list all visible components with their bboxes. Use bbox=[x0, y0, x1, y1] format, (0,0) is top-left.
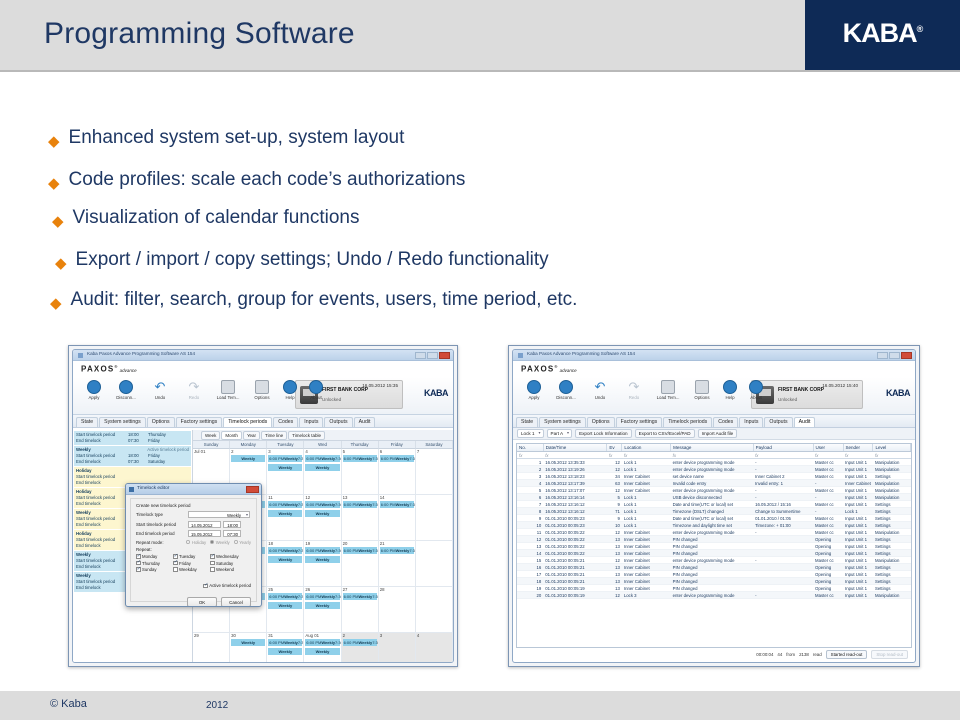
dialog-titlebar[interactable]: Timelock editor bbox=[126, 484, 261, 495]
calendar-event[interactable]: Weekly bbox=[305, 556, 339, 563]
calendar-event[interactable]: Weekly bbox=[231, 455, 265, 462]
table-row[interactable]: 216.05.2012 13:19:2612Lock 1enter device… bbox=[517, 466, 911, 473]
audit-cell-message: Date and time(UTC or local) set bbox=[671, 515, 753, 522]
bullet-item: ◆Visualization of calendar functions bbox=[52, 208, 360, 229]
end-label: End timelock bbox=[76, 459, 128, 465]
event-label: Weekly bbox=[396, 548, 410, 553]
left-tab-codes[interactable]: Codes bbox=[273, 417, 298, 427]
audit-cell-level: Manipulation bbox=[873, 529, 911, 536]
audit-column-user[interactable]: User bbox=[813, 444, 843, 452]
audit-filter-cell[interactable]: fx bbox=[753, 452, 813, 459]
checkbox-icon bbox=[173, 567, 178, 572]
audit-cell-datetime: 16.05.2012 13:16:12 bbox=[543, 501, 607, 508]
audit-cell-location: Inner Cabinet bbox=[622, 585, 671, 592]
table-row[interactable]: 901.01.2010 00:05:239Lock 1Date and time… bbox=[517, 515, 911, 522]
calendar-event[interactable]: 6:00 PMWeekly7:30 AM bbox=[268, 501, 302, 508]
left-tab-outputs[interactable]: Outputs bbox=[324, 417, 352, 427]
cancel-button[interactable]: Cancel bbox=[221, 597, 251, 607]
calendar-cell[interactable]: 46:00 PMWeekly7:30 AMWeekly bbox=[304, 449, 341, 495]
right-tab-outputs[interactable]: Outputs bbox=[764, 417, 792, 427]
audit-cell-location: Lock 1 bbox=[622, 508, 671, 515]
audit-cell-ev: 13 bbox=[607, 571, 622, 578]
event-start-time: 6:00 PM bbox=[344, 594, 359, 599]
right-tabstrip[interactable]: StateSystem settingsOptionsFactory setti… bbox=[513, 415, 915, 428]
audit-column-ev[interactable]: Ev bbox=[607, 444, 622, 452]
audit-cell-location: Lock 1 bbox=[622, 515, 671, 522]
calendar-event[interactable]: 6:00 PMWeekly7:30 AM bbox=[343, 501, 377, 508]
close-icon[interactable] bbox=[439, 352, 450, 359]
audit-cell-level: Settings bbox=[873, 473, 911, 480]
start-time-input[interactable]: 18:00 bbox=[223, 521, 241, 528]
audit-table-body[interactable]: fxfxfxfxfxfxfxfxfx116.05.2012 13:35:3312… bbox=[517, 452, 911, 599]
calendar-event[interactable]: 6:00 PMWeekly7:30 AM bbox=[268, 639, 302, 646]
audit-cell-no: 2 bbox=[517, 466, 543, 473]
audit-status-bar: 00:00:04 44 from 2138 read Started read-… bbox=[516, 649, 912, 660]
toolbar-label: Disconn... bbox=[109, 395, 143, 400]
calendar-day-number: 26 bbox=[305, 587, 310, 592]
audit-column-payload[interactable]: Payload bbox=[753, 444, 813, 452]
calendar-view-year[interactable]: Year bbox=[243, 431, 260, 440]
calendar-view-timelock-table[interactable]: Timelock table bbox=[288, 431, 325, 440]
day-label: Monday bbox=[142, 554, 157, 559]
end-time: 07:30 bbox=[128, 459, 148, 465]
audit-subbar[interactable]: Lock 1Part AExport Lock InformationExpor… bbox=[513, 428, 915, 440]
audit-filter-cell[interactable]: fx bbox=[517, 452, 543, 459]
table-row[interactable]: 1501.01.2010 00:05:2112Inner Cabinetente… bbox=[517, 557, 911, 564]
right-tab-inputs[interactable]: Inputs bbox=[739, 417, 763, 427]
audit-cell-datetime: 01.01.2010 00:05:22 bbox=[543, 536, 607, 543]
calendar-event[interactable]: Weekly bbox=[305, 648, 339, 655]
end-time-input[interactable]: 07:30 bbox=[223, 530, 241, 537]
maximize-icon[interactable] bbox=[427, 352, 438, 359]
timelock-type-select[interactable]: Weekly bbox=[188, 511, 250, 518]
active-period-checkbox[interactable]: Active timelock period bbox=[203, 583, 251, 588]
audit-cell-ev: 12 bbox=[607, 487, 622, 494]
repeat-mode-radios[interactable]: HolidayWeeklyYearly bbox=[186, 540, 251, 545]
checkbox-icon bbox=[210, 567, 215, 572]
audit-cell-datetime: 01.01.2010 00:05:21 bbox=[543, 564, 607, 571]
table-row[interactable]: 1001.01.2010 00:05:2310Lock 1Timezone an… bbox=[517, 522, 911, 529]
audit-cell-level: Settings bbox=[873, 564, 911, 571]
calendar-cell[interactable]: 7 bbox=[416, 449, 453, 495]
radio-label: Holiday bbox=[192, 540, 206, 545]
toolbar-button-undo[interactable]: Undo bbox=[583, 380, 617, 400]
audit-cell-payload bbox=[753, 536, 813, 543]
day-label: Wednesday bbox=[216, 554, 239, 559]
right-tab-audit[interactable]: Audit bbox=[794, 417, 816, 427]
event-start-time: 6:00 PM bbox=[344, 640, 359, 645]
calendar-cell[interactable]: 30Weekly bbox=[230, 633, 267, 662]
audit-cell-ev: 63 bbox=[607, 480, 622, 487]
dialog-close-icon[interactable] bbox=[246, 486, 259, 493]
calendar-view-time-line[interactable]: Time line bbox=[261, 431, 287, 440]
slide-header: Programming Software KABA® bbox=[0, 0, 960, 70]
audit-cell-sender: Input Unit 1 bbox=[843, 585, 873, 592]
right-tab-timelock-periods[interactable]: Timelock periods bbox=[663, 417, 712, 427]
calendar-event[interactable]: 6:00 PMWeekly7:30 AM bbox=[305, 547, 339, 554]
table-row[interactable]: 1601.01.2010 00:05:2113Inner CabinetPIN … bbox=[517, 564, 911, 571]
audit-cell-no: 18 bbox=[517, 578, 543, 585]
right-window-titlebar[interactable]: Kaba Paxos Advance Programming Software … bbox=[513, 350, 915, 361]
repeat-mode-label: Repeat mode: bbox=[136, 540, 186, 545]
calendar-day-number: 14 bbox=[380, 495, 385, 500]
calendar-cell[interactable]: 126:00 PMWeekly7:30 AMWeekly bbox=[304, 495, 341, 541]
day-checkbox-weekday[interactable]: Weekday bbox=[173, 567, 210, 572]
table-row[interactable]: 1101.01.2010 00:05:2212Inner Cabinetente… bbox=[517, 529, 911, 536]
undo-icon bbox=[593, 380, 607, 394]
calendar-event[interactable]: 6:00 PMWeekly7:30 AM bbox=[380, 501, 414, 508]
table-row[interactable]: 2001.01.2010 00:05:1912Lock 3enter devic… bbox=[517, 592, 911, 599]
calendar-event[interactable]: Weekly bbox=[231, 639, 265, 646]
bullet-dot: ◆ bbox=[48, 134, 60, 149]
event-start-time: 6:00 PM bbox=[344, 456, 359, 461]
left-tab-factory-settings[interactable]: Factory settings bbox=[176, 417, 223, 427]
repeat-mode-yearly[interactable]: Yearly bbox=[234, 540, 251, 545]
audit-cell-ev: 12 bbox=[607, 592, 622, 599]
calendar-event[interactable]: Weekly bbox=[268, 648, 302, 655]
day-checkbox-friday[interactable]: Friday bbox=[173, 561, 210, 566]
audit-cell-level: Manipulation bbox=[873, 557, 911, 564]
calendar-day-header: Thursday bbox=[342, 441, 379, 449]
redo-icon bbox=[187, 380, 201, 394]
audit-cell-datetime: 01.01.2010 00:05:23 bbox=[543, 515, 607, 522]
event-label: Weekly bbox=[316, 465, 330, 470]
help-icon bbox=[723, 380, 737, 394]
paxos-logo-sub: advance bbox=[120, 368, 137, 373]
calendar-cell[interactable]: 146:00 PMWeekly7:30 AM bbox=[379, 495, 416, 541]
toolbar-button-undo[interactable]: Undo bbox=[143, 380, 177, 400]
audit-cell-sender: Input Unit 1 bbox=[843, 592, 873, 599]
calendar-event[interactable]: Weekly bbox=[268, 602, 302, 609]
audit-cell-payload bbox=[753, 571, 813, 578]
calendar-cell[interactable]: 36:00 PMWeekly7:30 AMWeekly bbox=[267, 449, 304, 495]
toolbar-label: About bbox=[299, 395, 333, 400]
audit-cell-level: Settings bbox=[873, 522, 911, 529]
left-tab-timelock-periods[interactable]: Timelock periods bbox=[223, 417, 272, 427]
calendar-event[interactable]: 6:00 PMWeekly7:30 AM bbox=[268, 547, 302, 554]
calendar-event[interactable]: 6:00 PMWeekly7:30 AM bbox=[343, 639, 377, 646]
timelock-editor-dialog[interactable]: Timelock editor Create new timelock peri… bbox=[125, 483, 262, 607]
calendar-cell[interactable]: 196:00 PMWeekly7:30 AMWeekly bbox=[304, 541, 341, 587]
calendar-cell[interactable]: 256:00 PMWeekly7:30 AMWeekly bbox=[267, 587, 304, 633]
start-date-input[interactable]: 14.05.2012 bbox=[188, 521, 221, 528]
audit-cell-datetime: 16.05.2012 13:16:14 bbox=[543, 494, 607, 501]
calendar-cell[interactable] bbox=[416, 541, 453, 587]
subbar-button-export-lock-information[interactable]: Export Lock Information bbox=[575, 429, 632, 438]
calendar-event[interactable]: Weekly bbox=[268, 510, 302, 517]
event-label: Weekly bbox=[316, 603, 330, 608]
event-start-time: 6:00 PM bbox=[306, 594, 321, 599]
table-row[interactable]: 316.05.2012 13:18:2334Inner Cabinetset d… bbox=[517, 473, 911, 480]
event-label: Weekly bbox=[284, 594, 298, 599]
right-tab-codes[interactable]: Codes bbox=[713, 417, 738, 427]
audit-column-location[interactable]: Location bbox=[622, 444, 671, 452]
calendar-cell[interactable]: 316:00 PMWeekly7:30 AMWeekly bbox=[267, 633, 304, 662]
window-controls[interactable] bbox=[415, 352, 450, 359]
calendar-event[interactable]: 6:00 PMWeekly7:30 AM bbox=[305, 455, 339, 462]
calendar-day-number: 29 bbox=[194, 633, 199, 638]
toolbar-button-disconn[interactable]: Disconn... bbox=[109, 380, 143, 400]
audit-cell-location: Lock 1 bbox=[622, 501, 671, 508]
audit-cell-no: 17 bbox=[517, 571, 543, 578]
calendar-day-header: Tuesday bbox=[267, 441, 304, 449]
read-word: read bbox=[813, 652, 822, 657]
repeat-label: Repeat: bbox=[136, 547, 251, 552]
audit-cell-location: Inner Cabinet bbox=[622, 564, 671, 571]
audit-cell-level: Settings bbox=[873, 508, 911, 515]
audit-cell-payload: - bbox=[753, 487, 813, 494]
left-window-titlebar[interactable]: Kaba Paxos Advance Programming Software … bbox=[73, 350, 453, 361]
toolbar-button-apply[interactable]: Apply bbox=[77, 380, 111, 400]
calendar-event[interactable]: 6:00 PMWeekly7:30 AM bbox=[268, 455, 302, 462]
audit-cell-payload bbox=[753, 550, 813, 557]
maximize-icon[interactable] bbox=[889, 352, 900, 359]
subbar-button-import-audit-file[interactable]: Import Audit file bbox=[698, 429, 738, 438]
audit-column-date-time[interactable]: Date/Time bbox=[543, 444, 607, 452]
calendar-cell[interactable]: 29 bbox=[193, 633, 230, 662]
calendar-event[interactable]: Weekly bbox=[305, 510, 339, 517]
toolbar-button-about[interactable]: About bbox=[739, 380, 773, 400]
audit-cell-message: enter device programming mode bbox=[671, 557, 753, 564]
calendar-view-month[interactable]: Month bbox=[221, 431, 242, 440]
subbar-button-export-to-csv-excel-pad[interactable]: Export to CSV/Excel/PAD bbox=[635, 429, 695, 438]
start-readout-button[interactable]: Started read-out bbox=[826, 650, 868, 659]
toolbar-button-redo[interactable]: Redo bbox=[617, 380, 651, 400]
timelock-list-item[interactable]: WeeklyActive timelock periodStart timelo… bbox=[74, 446, 191, 466]
audit-cell-user: - bbox=[813, 480, 843, 487]
audit-cell-payload bbox=[753, 564, 813, 571]
audit-column-level[interactable]: Level bbox=[873, 444, 911, 452]
dialog-buttons[interactable]: OK Cancel bbox=[136, 597, 251, 607]
registered-mark-icon: ® bbox=[917, 24, 923, 34]
audit-filter-cell[interactable]: fx bbox=[843, 452, 873, 459]
toolbar-button-loadtem[interactable]: Load Tem... bbox=[211, 380, 245, 400]
undo-icon bbox=[153, 380, 167, 394]
calendar-event[interactable]: 6:00 PMWeekly7:30 AM bbox=[305, 639, 339, 646]
end-label: End timelock bbox=[76, 522, 128, 528]
audit-cell-no: 14 bbox=[517, 550, 543, 557]
event-start-time: 6:00 PM bbox=[269, 456, 284, 461]
audit-filter-cell[interactable]: fx bbox=[671, 452, 753, 459]
calendar-cell[interactable]: Aug 016:00 PMWeekly7:30 AMWeekly bbox=[304, 633, 341, 662]
audit-filter-cell[interactable]: fx bbox=[622, 452, 671, 459]
end-day: Friday bbox=[148, 438, 160, 444]
repeat-mode-holiday[interactable]: Holiday bbox=[186, 540, 206, 545]
calendar-day-header: Saturday bbox=[416, 441, 453, 449]
table-row[interactable]: 516.05.2012 13:17:0712Inner Cabinetenter… bbox=[517, 487, 911, 494]
day-checkbox-wednesday[interactable]: Wednesday bbox=[210, 554, 251, 559]
calendar-cell[interactable]: 216:00 PMWeekly7:30 AM bbox=[379, 541, 416, 587]
calendar-cell[interactable] bbox=[416, 587, 453, 633]
right-tab-system-settings[interactable]: System settings bbox=[539, 417, 586, 427]
event-label: Weekly bbox=[278, 603, 292, 608]
toolbar-button-loadtem[interactable]: Load Tem... bbox=[651, 380, 685, 400]
calendar-cell[interactable]: 56:00 PMWeekly7:30 AM bbox=[342, 449, 379, 495]
left-tab-inputs[interactable]: Inputs bbox=[299, 417, 323, 427]
right-tab-factory-settings[interactable]: Factory settings bbox=[616, 417, 663, 427]
event-label: Weekly bbox=[358, 640, 372, 645]
calendar-day-number: Jul 01 bbox=[194, 449, 205, 454]
left-tab-audit[interactable]: Audit bbox=[354, 417, 376, 427]
calendar-event[interactable]: 6:00 PMWeekly7:30 AM bbox=[305, 501, 339, 508]
day-checkbox-saturday[interactable]: Saturday bbox=[210, 561, 251, 566]
table-row[interactable]: 1401.01.2010 00:05:2213Inner CabinetPIN … bbox=[517, 550, 911, 557]
calendar-cell[interactable] bbox=[416, 495, 453, 541]
right-tab-state[interactable]: State bbox=[516, 417, 538, 427]
header-divider bbox=[0, 70, 960, 72]
bullet-dot: ◆ bbox=[55, 256, 67, 271]
left-tab-options[interactable]: Options bbox=[147, 417, 175, 427]
audit-cell-user: Opening bbox=[813, 536, 843, 543]
toolbar-button-about[interactable]: About bbox=[299, 380, 333, 400]
day-checkbox-weekend[interactable]: Weekend bbox=[210, 567, 251, 572]
audit-table-container[interactable]: No.Date/TimeEvLocationMessagePayloadUser… bbox=[516, 443, 912, 648]
toolbar-button-redo[interactable]: Redo bbox=[177, 380, 211, 400]
bullet-item: ◆Code profiles: scale each code’s author… bbox=[48, 170, 465, 191]
audit-cell-ev: 13 bbox=[607, 585, 622, 592]
calendar-cell[interactable]: 206:00 PMWeekly7:30 AM bbox=[342, 541, 379, 587]
close-icon[interactable] bbox=[901, 352, 912, 359]
audit-cell-user: Opening bbox=[813, 571, 843, 578]
calendar-event[interactable]: 6:00 PMWeekly7:30 AM bbox=[343, 455, 377, 462]
table-row[interactable]: 116.05.2012 13:35:3312Lock 1enter device… bbox=[517, 459, 911, 466]
calendar-cell[interactable]: 66:00 PMWeekly7:30 AM bbox=[379, 449, 416, 495]
audit-cell-ev: 34 bbox=[607, 473, 622, 480]
audit-cell-payload: - bbox=[753, 466, 813, 473]
left-toolbar-kaba-logo: KABA bbox=[424, 388, 448, 398]
part-select[interactable]: Part A bbox=[547, 429, 573, 438]
audit-cell-ev: 13 bbox=[607, 543, 622, 550]
end-label: End timelock bbox=[76, 564, 128, 570]
calendar-view-tabs[interactable]: WeekMonthYearTime lineTimelock table bbox=[193, 430, 453, 441]
day-checkbox-thursday[interactable]: Thursday bbox=[136, 561, 173, 566]
calendar-cell[interactable]: 28 bbox=[379, 587, 416, 633]
calendar-day-header: Friday bbox=[379, 441, 416, 449]
toolbar-button-disconn[interactable]: Disconn... bbox=[549, 380, 583, 400]
repeat-mode-weekly[interactable]: Weekly bbox=[210, 540, 230, 545]
audit-cell-payload: - bbox=[753, 459, 813, 466]
table-row[interactable]: 1301.01.2010 00:05:2213Inner CabinetPIN … bbox=[517, 543, 911, 550]
table-row[interactable]: 616.05.2012 13:16:145Lock 1USB device di… bbox=[517, 494, 911, 501]
day-checkbox-sunday[interactable]: Sunday bbox=[136, 567, 173, 572]
audit-filter-cell[interactable]: fx bbox=[607, 452, 622, 459]
ok-button[interactable]: OK bbox=[187, 597, 217, 607]
window-controls[interactable] bbox=[877, 352, 912, 359]
records-count: 44 bbox=[777, 652, 782, 657]
calendar-event[interactable]: 6:00 PMWeekly7:30 AM bbox=[380, 547, 414, 554]
bullet-dot: ◆ bbox=[48, 176, 60, 191]
bullet-dot: ◆ bbox=[50, 296, 62, 311]
audit-cell-user: Master cc bbox=[813, 487, 843, 494]
table-row[interactable]: 1201.01.2010 00:05:2213Inner CabinetPIN … bbox=[517, 536, 911, 543]
audit-column-no-[interactable]: No. bbox=[517, 444, 543, 452]
end-date-input[interactable]: 15.05.2012 bbox=[188, 530, 221, 537]
calendar-event[interactable]: 6:00 PMWeekly7:30 AM bbox=[268, 593, 302, 600]
day-label: Saturday bbox=[216, 561, 233, 566]
left-tab-state[interactable]: State bbox=[76, 417, 98, 427]
day-checkbox-tuesday[interactable]: Tuesday bbox=[173, 554, 210, 559]
table-row[interactable]: 416.05.2012 13:17:3963Inner CabinetInval… bbox=[517, 480, 911, 487]
table-row[interactable]: 716.05.2012 13:16:129Lock 1Date and time… bbox=[517, 501, 911, 508]
audit-cell-payload: - bbox=[753, 494, 813, 501]
table-row[interactable]: 1701.01.2010 00:05:2113Inner CabinetPIN … bbox=[517, 571, 911, 578]
audit-cell-location: Inner Cabinet bbox=[622, 543, 671, 550]
stop-readout-button: Stop read-out bbox=[871, 650, 908, 659]
audit-cell-message: PIN changed bbox=[671, 571, 753, 578]
calendar-view-week[interactable]: Week bbox=[201, 431, 220, 440]
calendar-event[interactable]: 6:00 PMWeekly7:30 AM bbox=[343, 547, 377, 554]
calendar-cell[interactable]: 3 bbox=[379, 633, 416, 662]
end-day: Saturday bbox=[148, 459, 165, 465]
calendar-cell[interactable]: 186:00 PMWeekly7:30 AMWeekly bbox=[267, 541, 304, 587]
calendar-event[interactable]: Weekly bbox=[305, 464, 339, 471]
table-row[interactable]: 1801.01.2010 00:05:2113Inner CabinetPIN … bbox=[517, 578, 911, 585]
bullet-text: Code profiles: scale each code’s authori… bbox=[69, 170, 466, 191]
table-row[interactable]: 1901.01.2010 00:05:1913Inner CabinetPIN … bbox=[517, 585, 911, 592]
calendar-event[interactable]: 6:00 PMWeekly7:30 AM bbox=[305, 593, 339, 600]
calendar-event[interactable]: 6:00 PMWeekly7:30 AM bbox=[343, 593, 377, 600]
audit-cell-sender: Input Unit 1 bbox=[843, 494, 873, 501]
audit-filter-row[interactable]: fxfxfxfxfxfxfxfxfx bbox=[517, 452, 911, 459]
calendar-event[interactable]: Weekly bbox=[305, 602, 339, 609]
audit-header-row[interactable]: No.Date/TimeEvLocationMessagePayloadUser… bbox=[517, 444, 911, 452]
table-row[interactable]: 816.05.2012 13:16:1271Lock 1Timezone (DS… bbox=[517, 508, 911, 515]
audit-cell-user: Master cc bbox=[813, 592, 843, 599]
audit-filter-cell[interactable]: fx bbox=[813, 452, 843, 459]
calendar-event[interactable]: 6:00 PMWeekly7:30 AM bbox=[380, 455, 414, 462]
calendar-cell[interactable]: 26:00 PMWeekly7:30 AM bbox=[342, 633, 379, 662]
audit-column-sender[interactable]: Sender bbox=[843, 444, 873, 452]
minimize-icon[interactable] bbox=[877, 352, 888, 359]
calendar-event[interactable]: Weekly bbox=[268, 556, 302, 563]
calendar-cell[interactable]: 4 bbox=[416, 633, 453, 662]
calendar-day-number: 13 bbox=[343, 495, 348, 500]
lock-select[interactable]: Lock 1 bbox=[517, 429, 544, 438]
left-tabstrip[interactable]: StateSystem settingsOptionsFactory setti… bbox=[73, 415, 453, 428]
audit-cell-payload: 16.05.2012 / 15:16 bbox=[753, 501, 813, 508]
calendar-cell[interactable]: 116:00 PMWeekly7:30 AMWeekly bbox=[267, 495, 304, 541]
options-icon bbox=[255, 380, 269, 394]
day-checkbox-monday[interactable]: Monday bbox=[136, 554, 173, 559]
calendar-cell[interactable]: 136:00 PMWeekly7:30 AM bbox=[342, 495, 379, 541]
calendar-day-header: Sunday bbox=[193, 441, 230, 449]
audit-cell-datetime: 01.01.2010 00:05:22 bbox=[543, 543, 607, 550]
calendar-cell[interactable]: 276:00 PMWeekly7:30 AM bbox=[342, 587, 379, 633]
audit-cell-payload bbox=[753, 585, 813, 592]
audit-cell-location: Lock 3 bbox=[622, 592, 671, 599]
audit-cell-datetime: 16.05.2012 13:19:26 bbox=[543, 466, 607, 473]
toolbar-label: Disconn... bbox=[549, 395, 583, 400]
audit-filter-cell[interactable]: fx bbox=[543, 452, 607, 459]
repeat-day-checkboxes[interactable]: MondayTuesdayWednesdayThursdayFridaySatu… bbox=[136, 554, 251, 572]
audit-cell-location: Inner Cabinet bbox=[622, 487, 671, 494]
calendar-cell[interactable]: 266:00 PMWeekly7:30 AMWeekly bbox=[304, 587, 341, 633]
toolbar-button-apply[interactable]: Apply bbox=[517, 380, 551, 400]
audit-cell-no: 13 bbox=[517, 543, 543, 550]
timelock-list-item[interactable]: Start timelock period18:00ThursdayEnd ti… bbox=[74, 431, 191, 445]
day-label: Weekend bbox=[216, 567, 234, 572]
audit-filter-cell[interactable]: fx bbox=[873, 452, 911, 459]
audit-cell-user: Master cc bbox=[813, 515, 843, 522]
minimize-icon[interactable] bbox=[415, 352, 426, 359]
audit-cell-sender: Input Unit 1 bbox=[843, 473, 873, 480]
audit-cell-ev: 71 bbox=[607, 508, 622, 515]
left-tab-system-settings[interactable]: System settings bbox=[99, 417, 146, 427]
right-tab-options[interactable]: Options bbox=[587, 417, 615, 427]
calendar-event[interactable]: Weekly bbox=[268, 464, 302, 471]
timelock-end: End timelock07:30Friday bbox=[76, 438, 189, 444]
audit-column-message[interactable]: Message bbox=[671, 444, 753, 452]
